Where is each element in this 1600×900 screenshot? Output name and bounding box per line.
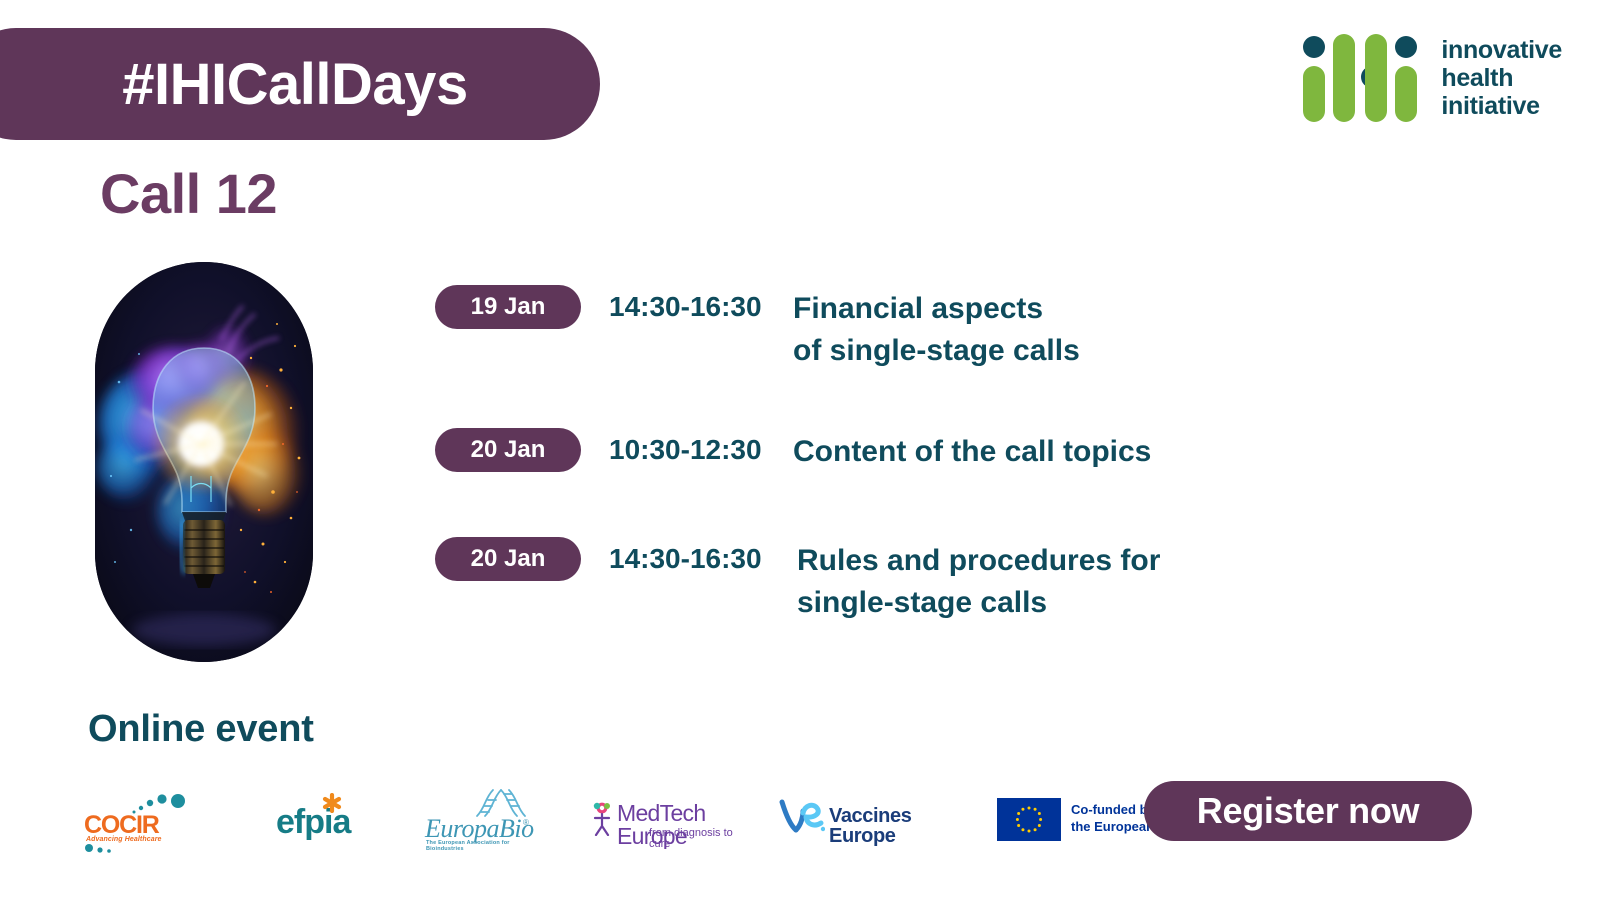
medtech-person-icon — [591, 802, 613, 836]
vaccines-europe-wordmark: Vaccines Europe — [829, 806, 939, 846]
ihi-wordmark-line-2: health — [1441, 64, 1562, 92]
europabio-registered-mark: ® — [523, 818, 529, 827]
cocir-wordmark: COCIR — [84, 813, 159, 838]
schedule-title: Rules and procedures for single-stage ca… — [793, 537, 1435, 624]
page-title: Call 12 — [100, 161, 277, 226]
ihi-wordmark-line-1: innovative — [1441, 36, 1562, 64]
schedule-date-badge: 20 Jan — [435, 537, 581, 581]
schedule-date-badge: 20 Jan — [435, 428, 581, 472]
hashtag-text: #IHICallDays — [122, 51, 467, 118]
schedule-title-line-1: Content of the call topics — [793, 431, 1435, 473]
eu-flag-icon — [997, 798, 1061, 841]
efpia-asterisk-icon — [322, 793, 342, 813]
ihi-logomark-icon — [1301, 34, 1419, 122]
schedule-row: 20 Jan 14:30-16:30 Rules and procedures … — [435, 537, 1435, 624]
schedule-list: 19 Jan 14:30-16:30 Financial aspects of … — [435, 285, 1435, 624]
schedule-title: Content of the call topics — [793, 428, 1435, 473]
hashtag-banner: #IHICallDays — [0, 28, 600, 140]
schedule-time: 14:30-16:30 — [581, 537, 793, 581]
cocir-dots-secondary-icon — [84, 841, 118, 855]
europabio-wordmark: EuropaBio — [425, 816, 534, 842]
ihi-logo: innovative health initiative — [1301, 34, 1562, 122]
schedule-title-line-2: of single-stage calls — [793, 330, 1435, 372]
europabio-tagline: The European Association for Bioindustri… — [426, 840, 535, 852]
ihi-wordmark: innovative health initiative — [1441, 36, 1562, 120]
lightbulb-illustration-icon — [95, 262, 313, 662]
partner-logo-europabio: EuropaBio ® The European Association for… — [425, 790, 535, 848]
schedule-date-badge: 19 Jan — [435, 285, 581, 329]
partner-logo-medtech-europe: MedTech Europe from diagnosis to cure — [591, 792, 741, 846]
ihi-wordmark-line-3: initiative — [1441, 92, 1562, 120]
poster-canvas: #IHICallDays Call 12 innovative health i… — [0, 0, 1600, 900]
partner-logo-vaccines-europe: Vaccines Europe — [779, 797, 939, 841]
partner-logo-strip: COCIR Advancing Healthcare efpia — [84, 788, 1185, 850]
partner-logo-efpia: efpia — [276, 793, 360, 845]
schedule-time: 14:30-16:30 — [581, 285, 793, 329]
schedule-time: 10:30-12:30 — [581, 428, 793, 472]
schedule-row: 19 Jan 14:30-16:30 Financial aspects of … — [435, 285, 1435, 372]
register-now-button[interactable]: Register now — [1144, 781, 1472, 841]
schedule-title-line-1: Financial aspects — [793, 288, 1435, 330]
medtech-tagline: from diagnosis to cure — [649, 828, 741, 850]
schedule-title-line-2: single-stage calls — [797, 582, 1435, 624]
partner-logo-cocir: COCIR Advancing Healthcare — [84, 791, 188, 847]
lightbulb-hero-image — [95, 262, 313, 662]
vaccines-europe-ve-icon — [779, 799, 825, 833]
event-format-label: Online event — [88, 708, 314, 751]
schedule-title: Financial aspects of single-stage calls — [793, 285, 1435, 372]
schedule-title-line-1: Rules and procedures for — [797, 540, 1435, 582]
schedule-row: 20 Jan 10:30-12:30 Content of the call t… — [435, 428, 1435, 473]
